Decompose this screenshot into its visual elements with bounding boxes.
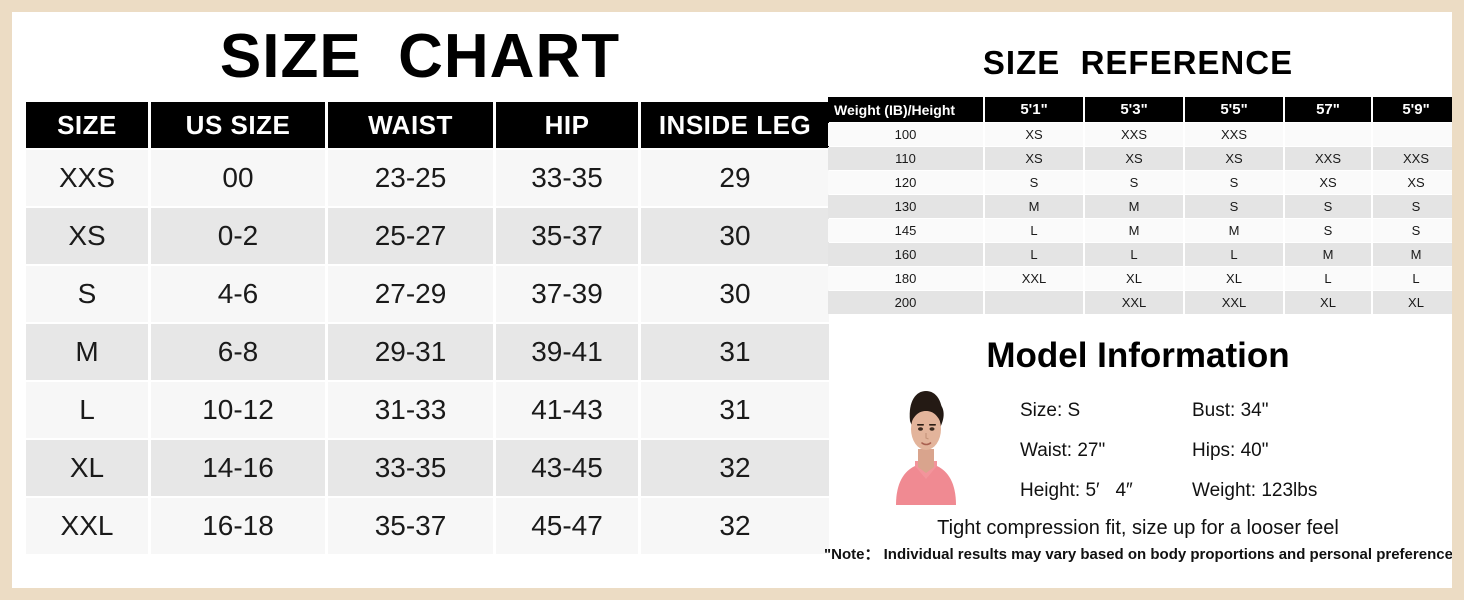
cell-h2: XL [1085, 267, 1183, 290]
table-row: S 4-6 27-29 37-39 30 [26, 266, 829, 322]
table-row: 130 M M S S S [828, 195, 1459, 218]
cell-h1: XS [985, 123, 1083, 146]
cell-h3: L [1185, 243, 1283, 266]
model-spec-waist: Waist: 27" [1020, 440, 1192, 462]
cell-h5: M [1373, 243, 1459, 266]
model-portrait-icon [888, 387, 964, 505]
cell-weight: 120 [828, 171, 983, 194]
model-spec-size: Size: S [1020, 400, 1192, 422]
cell-h3: XS [1185, 147, 1283, 170]
cell-hip: 35-37 [496, 208, 638, 264]
cell-weight: 200 [828, 291, 983, 314]
cell-us-size: 6-8 [151, 324, 325, 380]
size-chart-col-us-size: US SIZE [151, 102, 325, 148]
size-reference-header-row: Weight (IB)/Height 5'1" 5'3" 5'5" 57" 5'… [828, 97, 1459, 122]
cell-hip: 45-47 [496, 498, 638, 554]
cell-h2: XXS [1085, 123, 1183, 146]
cell-waist: 31-33 [328, 382, 493, 438]
model-spec-row: Size: S Bust: 34" [1020, 391, 1440, 431]
cell-h1 [985, 291, 1083, 314]
cell-h4: M [1285, 243, 1371, 266]
cell-h1: XXL [985, 267, 1083, 290]
cell-waist: 33-35 [328, 440, 493, 496]
cell-size: L [26, 382, 148, 438]
cell-h2: XS [1085, 147, 1183, 170]
size-chart-col-size: SIZE [26, 102, 148, 148]
cell-hip: 43-45 [496, 440, 638, 496]
size-chart-col-hip: HIP [496, 102, 638, 148]
ref-col-height-5-5: 5'5" [1185, 97, 1283, 122]
cell-h4: XL [1285, 291, 1371, 314]
model-specs: Size: S Bust: 34" Waist: 27" Hips: 40" H… [1020, 391, 1440, 511]
cell-size: XL [26, 440, 148, 496]
cell-h2: XXL [1085, 291, 1183, 314]
cell-waist: 27-29 [328, 266, 493, 322]
cell-inside-leg: 30 [641, 208, 829, 264]
cell-h5: S [1373, 195, 1459, 218]
table-row: XXS 00 23-25 33-35 29 [26, 150, 829, 206]
size-chart-title: SIZE CHART [20, 18, 820, 96]
cell-h5: L [1373, 267, 1459, 290]
table-row: M 6-8 29-31 39-41 31 [26, 324, 829, 380]
size-reference-pane: SIZE REFERENCE Weight (IB)/Height 5'1" 5… [824, 12, 1452, 588]
cell-us-size: 14-16 [151, 440, 325, 496]
table-row: L 10-12 31-33 41-43 31 [26, 382, 829, 438]
cell-size: XS [26, 208, 148, 264]
cell-inside-leg: 31 [641, 382, 829, 438]
cell-waist: 23-25 [328, 150, 493, 206]
cell-inside-leg: 32 [641, 498, 829, 554]
cell-size: M [26, 324, 148, 380]
ref-col-height-5-7: 57" [1285, 97, 1371, 122]
cell-h5: S [1373, 219, 1459, 242]
cell-h4: XS [1285, 171, 1371, 194]
table-row: 120 S S S XS XS [828, 171, 1459, 194]
table-row: XS 0-2 25-27 35-37 30 [26, 208, 829, 264]
cell-h3: XXS [1185, 123, 1283, 146]
table-row: 145 L M M S S [828, 219, 1459, 242]
cell-weight: 110 [828, 147, 983, 170]
ref-col-weight-height: Weight (IB)/Height [828, 97, 983, 122]
cell-h4: L [1285, 267, 1371, 290]
cell-inside-leg: 32 [641, 440, 829, 496]
cell-inside-leg: 30 [641, 266, 829, 322]
size-chart-col-inside-leg: INSIDE LEG [641, 102, 829, 148]
cell-h3: XL [1185, 267, 1283, 290]
disclaimer: "Note： Individual results may vary based… [824, 545, 1452, 565]
cell-h4: XXS [1285, 147, 1371, 170]
cell-h1: M [985, 195, 1083, 218]
cell-weight: 145 [828, 219, 983, 242]
cell-hip: 41-43 [496, 382, 638, 438]
model-information-block: Size: S Bust: 34" Waist: 27" Hips: 40" H… [824, 385, 1452, 513]
size-chart-page: SIZE CHART SIZE US SIZE WAIST HIP INSIDE… [0, 0, 1464, 600]
table-row: 180 XXL XL XL L L [828, 267, 1459, 290]
cell-h1: S [985, 171, 1083, 194]
model-spec-row: Height: 5′ 4″ Weight: 123lbs [1020, 471, 1440, 511]
size-chart-table: SIZE US SIZE WAIST HIP INSIDE LEG XXS 00… [23, 100, 832, 556]
cell-hip: 39-41 [496, 324, 638, 380]
model-information-title: Model Information [824, 333, 1452, 379]
cell-us-size: 10-12 [151, 382, 325, 438]
ref-col-height-5-3: 5'3" [1085, 97, 1183, 122]
cell-weight: 100 [828, 123, 983, 146]
cell-h3: S [1185, 195, 1283, 218]
table-row: 100 XS XXS XXS [828, 123, 1459, 146]
cell-inside-leg: 29 [641, 150, 829, 206]
cell-inside-leg: 31 [641, 324, 829, 380]
cell-h3: XXL [1185, 291, 1283, 314]
cell-us-size: 16-18 [151, 498, 325, 554]
cell-weight: 130 [828, 195, 983, 218]
cell-hip: 37-39 [496, 266, 638, 322]
model-spec-row: Waist: 27" Hips: 40" [1020, 431, 1440, 471]
cell-h2: M [1085, 195, 1183, 218]
size-reference-table: Weight (IB)/Height 5'1" 5'3" 5'5" 57" 5'… [826, 96, 1461, 315]
cell-us-size: 0-2 [151, 208, 325, 264]
cell-h3: M [1185, 219, 1283, 242]
cell-size: XXL [26, 498, 148, 554]
cell-h5: XL [1373, 291, 1459, 314]
size-reference-title: SIZE REFERENCE [824, 42, 1452, 84]
ref-col-height-5-9: 5'9" [1373, 97, 1459, 122]
ref-col-height-5-1: 5'1" [985, 97, 1083, 122]
model-spec-height: Height: 5′ 4″ [1020, 480, 1192, 502]
cell-h1: XS [985, 147, 1083, 170]
page-inner: SIZE CHART SIZE US SIZE WAIST HIP INSIDE… [12, 12, 1452, 588]
table-row: XL 14-16 33-35 43-45 32 [26, 440, 829, 496]
size-chart-pane: SIZE CHART SIZE US SIZE WAIST HIP INSIDE… [20, 12, 820, 588]
size-chart-header-row: SIZE US SIZE WAIST HIP INSIDE LEG [26, 102, 829, 148]
cell-h2: L [1085, 243, 1183, 266]
table-row: 160 L L L M M [828, 243, 1459, 266]
cell-h1: L [985, 243, 1083, 266]
cell-waist: 35-37 [328, 498, 493, 554]
fit-note: Tight compression fit, size up for a loo… [824, 515, 1452, 541]
cell-h4: S [1285, 219, 1371, 242]
cell-h4 [1285, 123, 1371, 146]
cell-h5: XS [1373, 171, 1459, 194]
cell-us-size: 4-6 [151, 266, 325, 322]
table-row: 110 XS XS XS XXS XXS [828, 147, 1459, 170]
cell-h5: XXS [1373, 147, 1459, 170]
cell-size: XXS [26, 150, 148, 206]
cell-weight: 160 [828, 243, 983, 266]
cell-h4: S [1285, 195, 1371, 218]
model-spec-hips: Hips: 40" [1192, 440, 1422, 462]
cell-h5 [1373, 123, 1459, 146]
cell-h2: S [1085, 171, 1183, 194]
table-row: XXL 16-18 35-37 45-47 32 [26, 498, 829, 554]
cell-waist: 25-27 [328, 208, 493, 264]
cell-h2: M [1085, 219, 1183, 242]
table-row: 200 XXL XXL XL XL [828, 291, 1459, 314]
cell-size: S [26, 266, 148, 322]
cell-us-size: 00 [151, 150, 325, 206]
model-spec-bust: Bust: 34" [1192, 400, 1422, 422]
cell-hip: 33-35 [496, 150, 638, 206]
cell-weight: 180 [828, 267, 983, 290]
cell-h3: S [1185, 171, 1283, 194]
cell-waist: 29-31 [328, 324, 493, 380]
cell-h1: L [985, 219, 1083, 242]
model-photo [888, 387, 964, 505]
size-chart-col-waist: WAIST [328, 102, 493, 148]
model-spec-weight: Weight: 123lbs [1192, 480, 1422, 502]
